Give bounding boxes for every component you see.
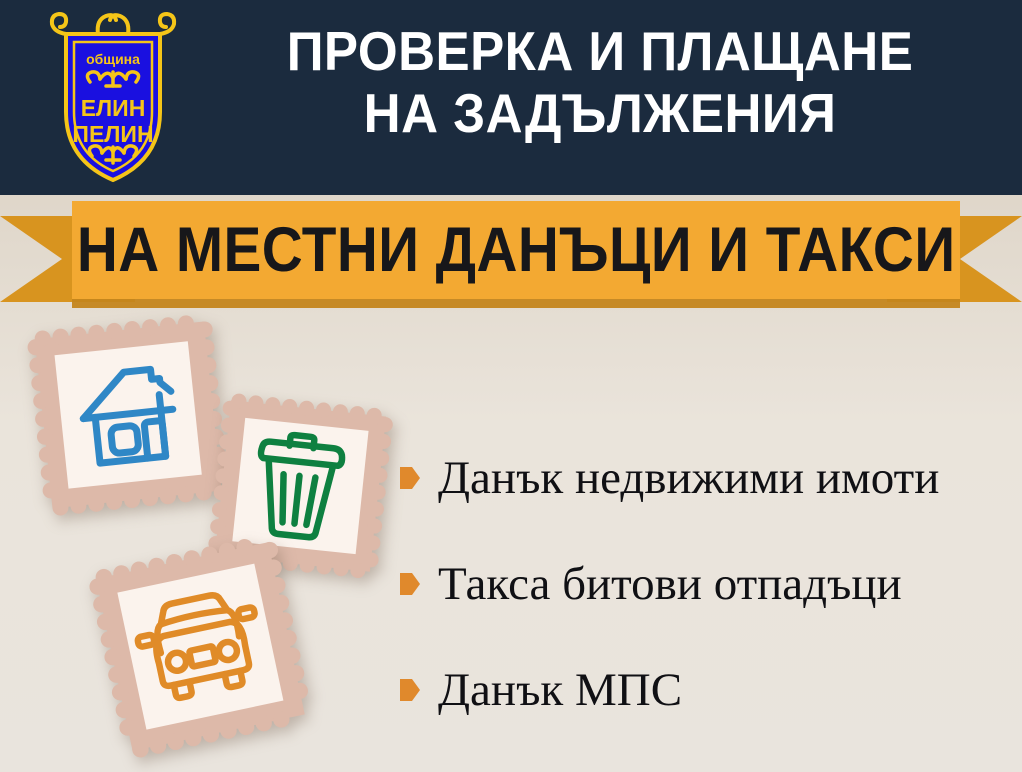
list-item[interactable]: Данък недвижими имоти	[400, 425, 1015, 531]
page-title-line-2: НА ЗАДЪЛЖЕНИЯ	[219, 82, 982, 144]
logo-word-elin: ЕЛИН	[81, 95, 146, 121]
logo-word-obshtina: община	[86, 51, 140, 67]
arrow-bullet-icon	[400, 677, 420, 703]
logo-word-pelin: ПЕЛИН	[72, 121, 153, 147]
subtitle-ribbon: НА МЕСТНИ ДАНЪЦИ И ТАКСИ	[0, 196, 1022, 308]
arrow-bullet-icon	[400, 465, 420, 491]
municipality-logo: община ЕЛИН ПЕЛИН	[38, 8, 188, 188]
list-item[interactable]: Данък МПС	[400, 637, 1015, 743]
services-list: Данък недвижими имоти Такса битови отпад…	[400, 425, 1015, 743]
list-item[interactable]: Такса битови отпадъци	[400, 531, 1015, 637]
stamp-card-vehicle-tax	[84, 532, 324, 772]
ribbon-panel: НА МЕСТНИ ДАНЪЦИ И ТАКСИ	[72, 201, 960, 299]
page-title-line-1: ПРОВЕРКА И ПЛАЩАНЕ	[219, 20, 982, 82]
poster-header: община ЕЛИН ПЕЛИН	[0, 0, 1022, 195]
ribbon-label: НА МЕСТНИ ДАНЪЦИ И ТАКСИ	[77, 219, 956, 282]
page-title: ПРОВЕРКА И ПЛАЩАНЕ НА ЗАДЪЛЖЕНИЯ	[190, 20, 1010, 144]
arrow-bullet-icon	[400, 571, 420, 597]
list-item-label: Данък недвижими имоти	[438, 453, 939, 503]
list-item-label: Такса битови отпадъци	[438, 559, 902, 609]
list-item-label: Данък МПС	[438, 665, 682, 715]
poster-canvas: Данък недвижими имоти Такса битови отпад…	[0, 0, 1022, 772]
